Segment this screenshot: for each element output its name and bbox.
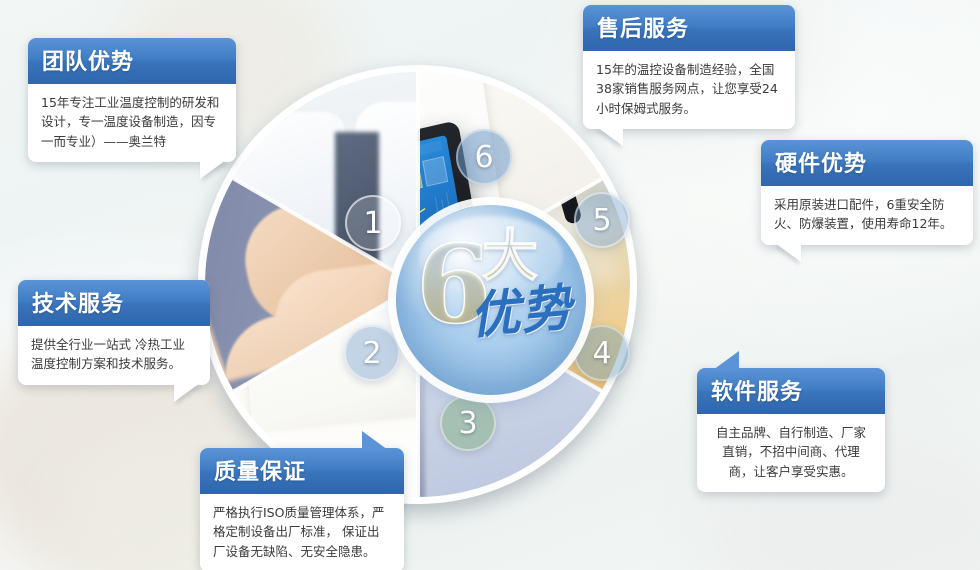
callout-software-title: 软件服务 [697,368,885,414]
segment-number-3[interactable]: 3 [440,395,496,451]
badge-char-youshi: 优势 [468,283,574,342]
segment-number-4-label: 4 [592,336,611,371]
segment-number-6[interactable]: 6 [456,129,512,185]
callout-tech-title: 技术服务 [18,280,210,326]
callout-quality[interactable]: 质量保证 严格执行ISO质量管理体系，严格定制设备出厂标准， 保证出厂设备无缺陷… [200,448,404,570]
segment-number-5-label: 5 [592,203,611,238]
callout-software[interactable]: 软件服务 自主品牌、自行制造、厂家直销，不招中间商、代理商，让客户享受实惠。 [697,368,885,492]
callout-tail-icon [200,160,226,179]
callout-after-sales-body: 15年的温控设备制造经验，全国38家销售服务网点，让您享受24小时保姆式服务。 [583,51,795,129]
callout-team-advantage[interactable]: 团队优势 15年专注工业温度控制的研发和设计，专一温度设备制造，因专一而专业）—… [28,38,236,162]
callout-tail-icon [713,351,739,370]
segment-number-2-label: 2 [362,336,381,371]
callout-hardware[interactable]: 硬件优势 采用原装进口配件，6重安全防火、防爆装置，使用寿命12年。 [761,140,973,245]
callout-team-title: 团队优势 [28,38,236,84]
segment-number-6-label: 6 [474,140,493,175]
segment-number-1[interactable]: 1 [345,195,401,251]
badge-char-da: 大 [482,229,538,285]
segment-number-5[interactable]: 5 [574,192,630,248]
callout-hardware-title: 硬件优势 [761,140,973,186]
callout-tail-icon [775,243,801,262]
callout-hardware-body: 采用原装进口配件，6重安全防火、防爆装置，使用寿命12年。 [761,186,973,245]
infographic-canvas: STOCK MARKET DATA INTC 440.86 [0,0,980,570]
callout-team-body: 15年专注工业温度控制的研发和设计，专一温度设备制造，因专一而专业）——奥兰特 [28,84,236,162]
segment-number-1-label: 1 [363,206,382,241]
callout-after-sales-title: 售后服务 [583,5,795,51]
segment-number-2[interactable]: 2 [344,325,400,381]
callout-tail-icon [597,127,623,146]
callout-quality-title: 质量保证 [200,448,404,494]
callout-tail-icon [174,383,200,402]
callout-software-body: 自主品牌、自行制造、厂家直销，不招中间商、代理商，让客户享受实惠。 [697,414,885,492]
segment-number-4[interactable]: 4 [574,325,630,381]
callout-tech-body: 提供全行业一站式 冷热工业温度控制方案和技术服务。 [18,326,210,385]
callout-tail-icon [362,431,388,450]
callout-quality-body: 严格执行ISO质量管理体系，严格定制设备出厂标准， 保证出厂设备无缺陷、无安全隐… [200,494,404,570]
callout-after-sales[interactable]: 售后服务 15年的温控设备制造经验，全国38家销售服务网点，让您享受24小时保姆… [583,5,795,129]
callout-tech-service[interactable]: 技术服务 提供全行业一站式 冷热工业温度控制方案和技术服务。 [18,280,210,385]
segment-number-3-label: 3 [458,406,477,441]
center-badge[interactable]: 6 大 优势 [396,205,586,395]
